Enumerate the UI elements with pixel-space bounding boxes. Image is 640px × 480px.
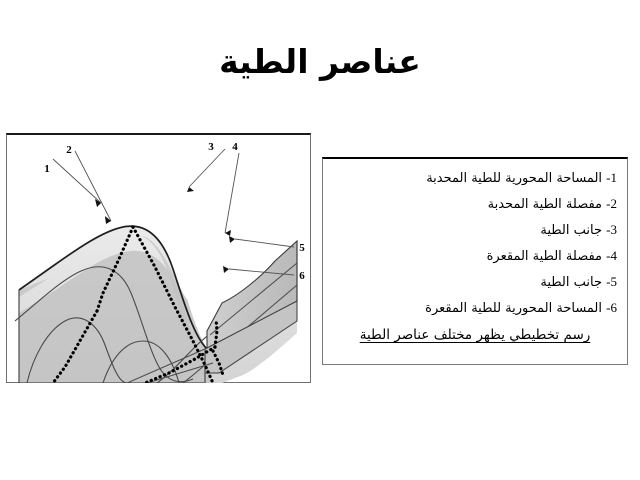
callout-label-1: 1: [44, 163, 50, 175]
legend-item-4-number: 4: [611, 248, 618, 263]
legend-item-4: 4- مفصلة الطية المقعرة: [333, 243, 617, 269]
callout-label-5: 5: [299, 242, 305, 254]
legend-item-3-text: جانب الطية: [540, 223, 602, 238]
legend-item-6-number: 6: [611, 300, 618, 315]
legend-item-4-text: مفصلة الطية المقعرة: [487, 249, 602, 264]
legend-item-2: 2- مفصلة الطية المحدبة: [333, 191, 617, 217]
callout-label-2: 2: [66, 144, 72, 156]
fold-diagram-panel: 2 1 3 4 5 6: [6, 133, 311, 383]
page-title: عناصر الطية: [0, 40, 640, 84]
legend-item-2-number: 2: [611, 196, 618, 211]
legend-item-3-number: 3: [611, 222, 618, 237]
callout-label-6: 6: [299, 270, 305, 282]
legend-item-5-text: جانب الطية: [540, 275, 602, 290]
legend-caption: رسم تخطيطي يظهر مختلف عناصر الطية: [333, 323, 617, 347]
callout-label-4: 4: [232, 141, 238, 153]
fold-block-diagram-svg: 2 1 3 4 5 6: [7, 135, 310, 383]
legend-item-1-text: المساحة المحورية للطية المحدبة: [426, 171, 602, 186]
legend-item-3: 3- جانب الطية: [333, 217, 617, 243]
legend-item-5-number: 5: [611, 274, 618, 289]
legend-item-2-text: مفصلة الطية المحدبة: [488, 197, 602, 212]
legend-item-1-number: 1: [611, 170, 618, 185]
legend-item-5: 5- جانب الطية: [333, 269, 617, 295]
legend-item-1: 1- المساحة المحورية للطية المحدبة: [333, 165, 617, 191]
legend-panel: 1- المساحة المحورية للطية المحدبة 2- مفص…: [322, 157, 628, 365]
legend-item-6-text: المساحة المحورية للطية المقعرة: [425, 301, 602, 316]
callout-label-3: 3: [208, 141, 214, 153]
legend-item-6: 6- المساحة المحورية للطية المقعرة: [333, 295, 617, 321]
